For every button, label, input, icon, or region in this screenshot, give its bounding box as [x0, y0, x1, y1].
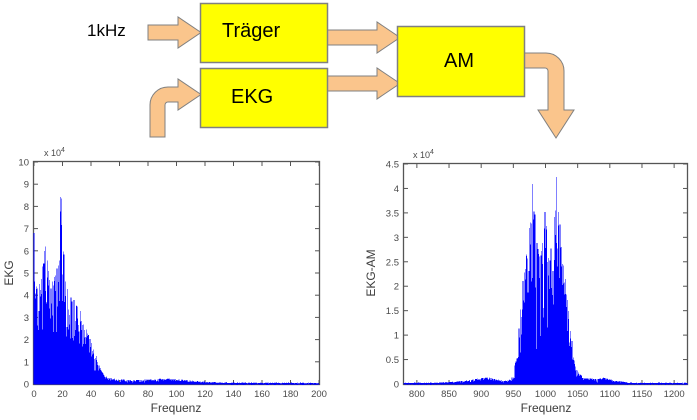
chart-ekg-am-spectrum-svg: 8008509009501000105011001150120000.511.5…: [350, 140, 697, 420]
block-carrier-label: Träger: [222, 20, 280, 43]
y-tick-label: 4: [394, 184, 399, 195]
y-tick-label: 4: [24, 291, 29, 302]
y-tick-label: 0: [394, 380, 399, 391]
arrow-carrier-to-am: [325, 22, 400, 53]
y-tick-label: 2: [394, 282, 399, 293]
x-tick-label: 950: [505, 389, 521, 400]
chart-ekg-spectrum: 020406080100120140160180200012345678910 …: [0, 140, 350, 420]
arrow-curved-to-ekg: [150, 79, 201, 137]
y-axis-title: EKG: [2, 260, 16, 285]
y-tick-label: 4.5: [386, 160, 399, 171]
y-tick-label: 3: [24, 313, 29, 324]
x-tick-label: 40: [86, 389, 97, 400]
x-axis-title: Frequenz: [521, 401, 572, 415]
y-tick-label: 1: [24, 357, 29, 368]
x-tick-label: 1000: [535, 389, 556, 400]
y-tick-label: 2: [24, 335, 29, 346]
x-tick-label: 160: [254, 389, 270, 400]
y-tick-label: 3.5: [386, 208, 399, 219]
x-tick-label: 180: [283, 389, 299, 400]
input-frequency-label: 1kHz: [87, 21, 126, 41]
chart-ekg-am-spectrum: 8008509009501000105011001150120000.511.5…: [350, 140, 697, 420]
arrow-ekg-to-am: [325, 68, 400, 99]
x-tick-label: 100: [169, 389, 185, 400]
x-tick-label: 120: [197, 389, 213, 400]
block-am-label: AM: [444, 50, 474, 73]
y-exponent-label: x 104: [44, 147, 65, 158]
chart-ekg-spectrum-svg: 020406080100120140160180200012345678910 …: [0, 140, 350, 420]
y-axis-title: EKG-AM: [364, 249, 378, 296]
x-tick-label: 1150: [632, 389, 652, 400]
y-tick-label: 1: [394, 331, 399, 342]
x-tick-label: 900: [473, 389, 489, 400]
y-tick-label: 0: [24, 380, 29, 391]
y-tick-label: 6: [24, 246, 29, 257]
arrow-input-to-carrier: [148, 17, 201, 48]
y-tick-label: 0.5: [386, 355, 399, 366]
y-tick-label: 5: [24, 269, 29, 280]
y-tick-label: 9: [24, 180, 29, 191]
x-tick-label: 1100: [600, 389, 620, 400]
y-tick-label: 10: [18, 158, 29, 169]
block-diagram: 1kHz Träger EKG AM: [0, 0, 697, 140]
x-tick-label: 800: [409, 389, 425, 400]
y-tick-label: 8: [24, 202, 29, 213]
x-tick-label: 850: [441, 389, 457, 400]
y-tick-label: 7: [24, 224, 29, 235]
x-tick-label: 1200: [664, 389, 685, 400]
x-tick-label: 80: [143, 389, 154, 400]
x-tick-label: 200: [311, 389, 327, 400]
x-tick-label: 0: [31, 389, 36, 400]
block-ekg-label: EKG: [231, 86, 273, 109]
x-tick-label: 20: [57, 389, 68, 400]
y-tick-label: 2.5: [386, 257, 399, 268]
y-exponent-label: x 104: [413, 149, 434, 160]
arrow-am-output: [522, 53, 574, 138]
y-tick-label: 3: [394, 233, 399, 244]
x-tick-label: 140: [226, 389, 242, 400]
x-axis-title: Frequenz: [151, 401, 202, 415]
y-tick-label: 1.5: [386, 306, 399, 317]
x-tick-label: 1050: [567, 389, 588, 400]
x-tick-label: 60: [114, 389, 125, 400]
